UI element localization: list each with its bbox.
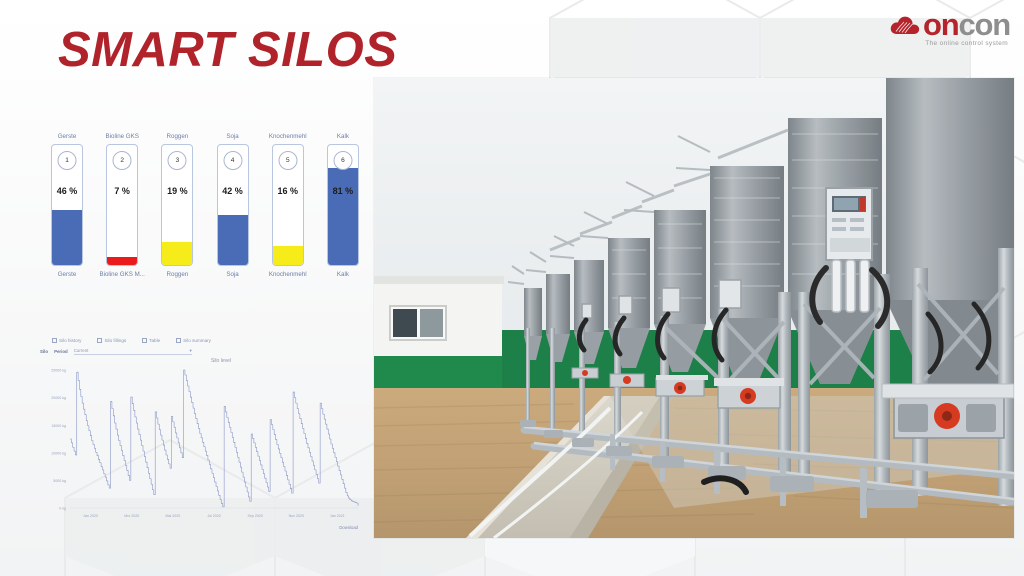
silo-gauge[interactable]: Bioline GKS 2 7 % Bioline GKS M... bbox=[99, 133, 145, 278]
logo-tagline: The online control system bbox=[925, 40, 1008, 47]
silo-percent-label: 16 % bbox=[273, 186, 303, 196]
svg-text:Jan 2020: Jan 2020 bbox=[83, 514, 98, 518]
silo-fill bbox=[107, 257, 137, 265]
silo-gauge[interactable]: Gerste 1 46 % Gerste bbox=[44, 133, 90, 278]
silo-percent-label: 19 % bbox=[162, 186, 192, 196]
tab-label: Silo summary bbox=[183, 338, 211, 343]
silo-gauge[interactable]: Knochenmehl 5 16 % Knochenmehl bbox=[265, 133, 311, 278]
logo-wordmark: oncon bbox=[923, 10, 1010, 39]
silo-percent-label: 81 % bbox=[328, 186, 358, 196]
silo-tube[interactable]: 4 42 % bbox=[217, 144, 249, 266]
filter-chip-silo[interactable]: Silo bbox=[40, 349, 48, 354]
logo-word-on: on bbox=[923, 7, 958, 42]
silo-level-panel: Gerste 1 46 % Gerste Bioline GKS 2 7 % B… bbox=[44, 133, 366, 295]
tab-label: Silo history bbox=[59, 338, 81, 343]
svg-text:15000 kg: 15000 kg bbox=[51, 424, 66, 428]
svg-text:25000 kg: 25000 kg bbox=[51, 369, 66, 373]
silo-tube[interactable]: 6 81 % bbox=[327, 144, 359, 266]
silo-percent-label: 42 % bbox=[218, 186, 248, 196]
silo-number-badge: 1 bbox=[58, 151, 77, 170]
chart-svg: 0 kg5000 kg10000 kg15000 kg20000 kg25000… bbox=[36, 364, 366, 532]
silo-bottom-label: Soja bbox=[226, 271, 238, 278]
svg-text:Jul 2020: Jul 2020 bbox=[207, 514, 221, 518]
tab-label: Silo fillings bbox=[104, 338, 126, 343]
filter-chip-period[interactable]: Period bbox=[54, 349, 68, 354]
silo-number-badge: 3 bbox=[168, 151, 187, 170]
svg-text:0 kg: 0 kg bbox=[59, 507, 66, 511]
silo-gauge[interactable]: Roggen 3 19 % Roggen bbox=[154, 133, 200, 278]
silo-top-label: Gerste bbox=[58, 133, 77, 140]
tab-marker-icon bbox=[52, 338, 57, 343]
period-select-value: Current bbox=[74, 348, 89, 354]
tab-silo-history[interactable]: Silo history bbox=[52, 338, 81, 343]
tab-label: Table bbox=[149, 338, 160, 343]
chart-plot-area[interactable]: 0 kg5000 kg10000 kg15000 kg20000 kg25000… bbox=[36, 364, 366, 532]
chevron-down-icon: ▾ bbox=[190, 348, 192, 354]
silo-fill bbox=[218, 215, 248, 265]
silo-number-badge: 4 bbox=[223, 151, 242, 170]
silo-number-badge: 6 bbox=[333, 151, 352, 170]
silo-top-label: Roggen bbox=[167, 133, 189, 140]
silo-fill bbox=[273, 246, 303, 265]
silo-tube[interactable]: 2 7 % bbox=[106, 144, 138, 266]
svg-text:Nov 2020: Nov 2020 bbox=[289, 514, 304, 518]
cloud-icon bbox=[890, 14, 920, 36]
silo-bottom-label: Kalk bbox=[337, 271, 349, 278]
page-title: SMART SILOS bbox=[58, 22, 397, 78]
logo-word-con: con bbox=[958, 7, 1010, 42]
svg-text:Jan 2021: Jan 2021 bbox=[330, 514, 345, 518]
brand-logo: oncon The online control system bbox=[890, 10, 1010, 47]
tab-table[interactable]: Table bbox=[142, 338, 160, 343]
photo-illustration bbox=[374, 78, 1014, 538]
silo-top-label: Knochenmehl bbox=[269, 133, 307, 140]
silo-tube[interactable]: 3 19 % bbox=[161, 144, 193, 266]
silo-installation-photo bbox=[374, 78, 1014, 538]
silo-number-badge: 2 bbox=[113, 151, 132, 170]
tab-marker-icon bbox=[97, 338, 102, 343]
tab-silo-summary[interactable]: Silo summary bbox=[176, 338, 211, 343]
silo-fill bbox=[328, 168, 358, 265]
silo-bottom-label: Bioline GKS M... bbox=[99, 271, 144, 278]
logo-row: oncon bbox=[890, 10, 1010, 39]
silo-percent-label: 46 % bbox=[52, 186, 82, 196]
svg-text:10000 kg: 10000 kg bbox=[51, 451, 66, 455]
svg-text:20000 kg: 20000 kg bbox=[51, 396, 66, 400]
silo-history-chart-panel: Silo history Silo fillings Table Silo su… bbox=[36, 336, 366, 536]
silo-bottom-label: Gerste bbox=[58, 271, 77, 278]
silo-fill bbox=[162, 242, 192, 265]
silo-tube[interactable]: 1 46 % bbox=[51, 144, 83, 266]
silo-percent-label: 7 % bbox=[107, 186, 137, 196]
svg-text:5000 kg: 5000 kg bbox=[53, 479, 66, 483]
svg-text:Mai 2020: Mai 2020 bbox=[165, 514, 180, 518]
chart-tab-bar: Silo history Silo fillings Table Silo su… bbox=[36, 336, 366, 345]
silo-tube[interactable]: 5 16 % bbox=[272, 144, 304, 266]
slide: SMART SILOS oncon The online control sys… bbox=[0, 0, 1024, 576]
period-select[interactable]: Current ▾ bbox=[74, 348, 192, 355]
silo-bottom-label: Knochenmehl bbox=[269, 271, 307, 278]
svg-text:Mrz 2020: Mrz 2020 bbox=[124, 514, 139, 518]
silo-fill bbox=[52, 210, 82, 265]
silo-gauge[interactable]: Kalk 6 81 % Kalk bbox=[320, 133, 366, 278]
chart-download-link[interactable]: Download bbox=[339, 525, 358, 530]
silo-top-label: Soja bbox=[226, 133, 238, 140]
silo-top-label: Kalk bbox=[337, 133, 349, 140]
silo-top-label: Bioline GKS bbox=[106, 133, 139, 140]
svg-text:Sep 2020: Sep 2020 bbox=[247, 514, 262, 518]
tab-marker-icon bbox=[142, 338, 147, 343]
silo-bottom-label: Roggen bbox=[167, 271, 189, 278]
tab-silo-fillings[interactable]: Silo fillings bbox=[97, 338, 126, 343]
silo-gauge[interactable]: Soja 4 42 % Soja bbox=[210, 133, 256, 278]
tab-marker-icon bbox=[176, 338, 181, 343]
chart-filter-bar: Silo Period Current ▾ bbox=[36, 347, 366, 355]
silo-number-badge: 5 bbox=[278, 151, 297, 170]
